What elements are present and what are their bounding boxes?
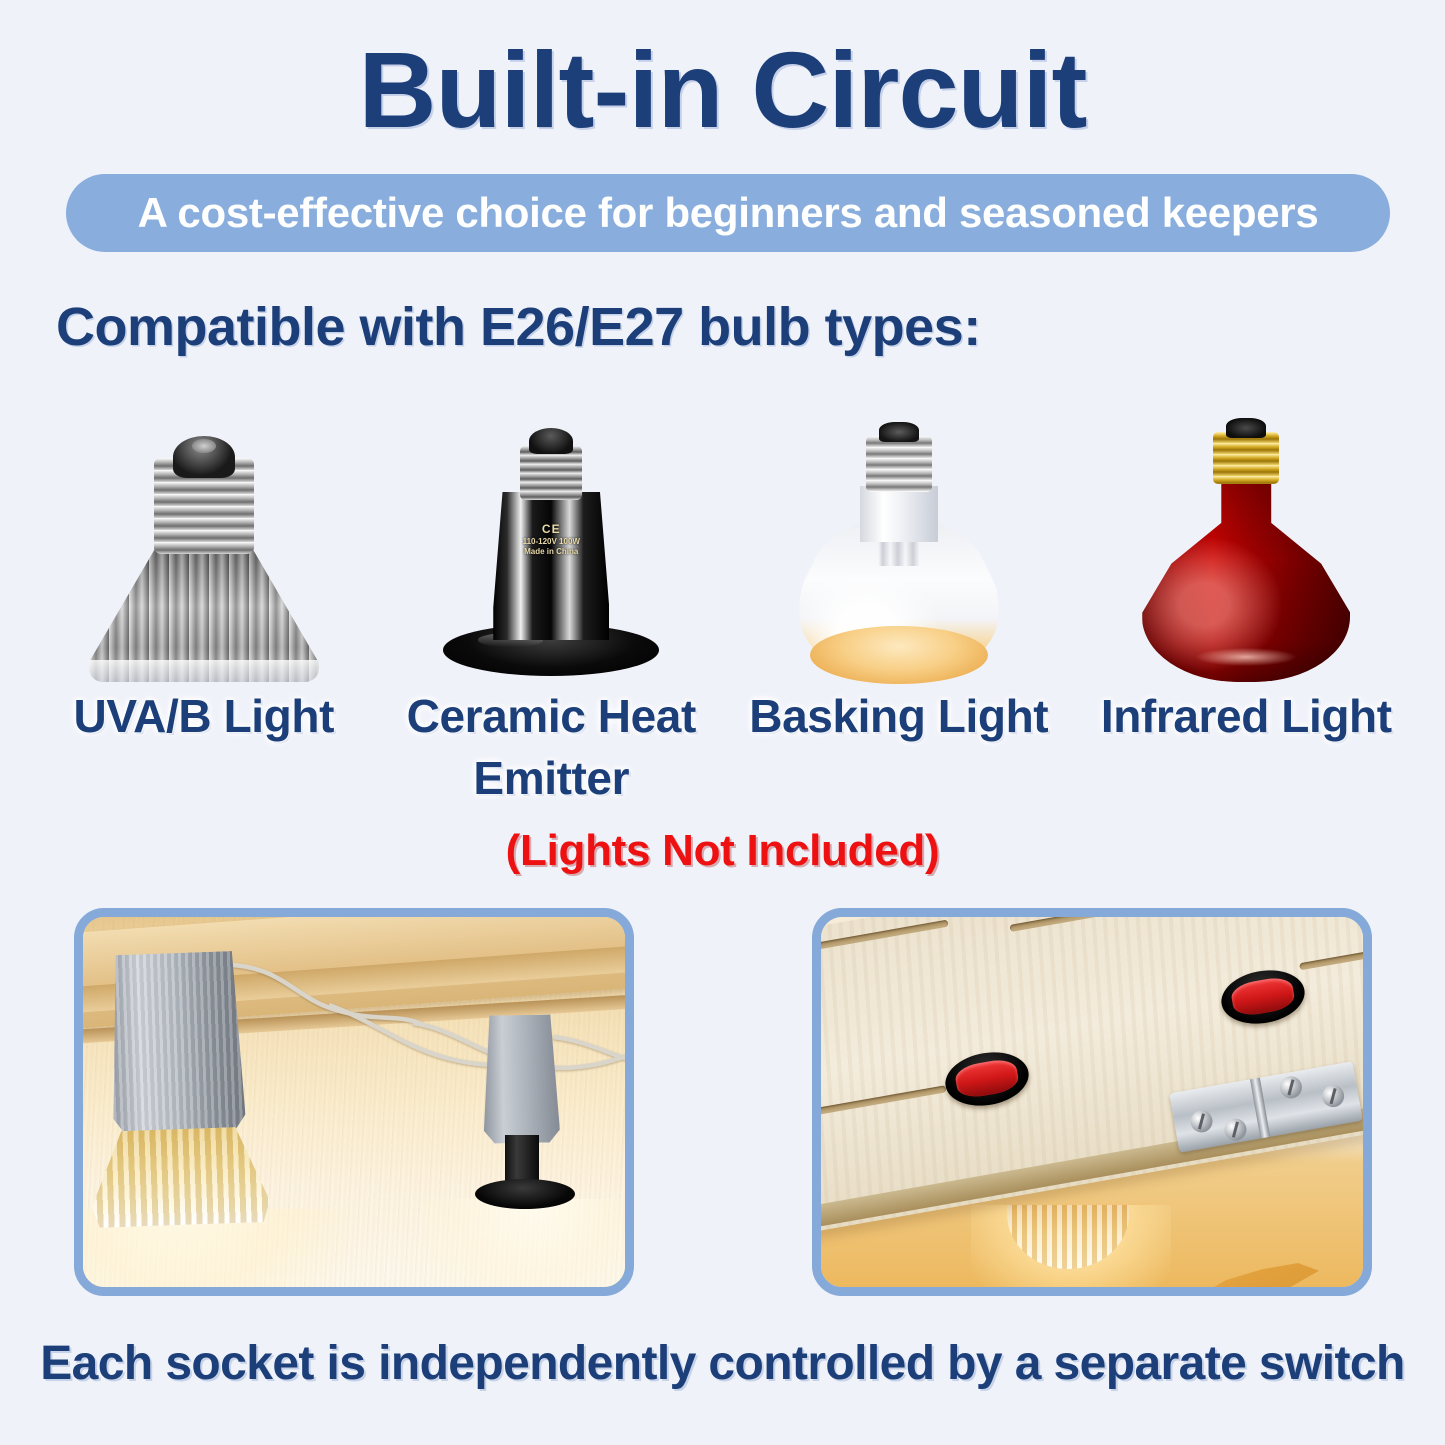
subtitle-banner: A cost-effective choice for beginners an… (66, 174, 1390, 252)
emitter-origin-text: Made in China (524, 547, 578, 556)
basking-bulb-icon (799, 420, 999, 682)
bulb-label-ceramic-heat-emitter: Ceramic Heat Emitter (378, 686, 726, 809)
emitter-rating-text: 110-120V 100W (523, 537, 580, 546)
bulb-label-row: UVA/B Light Ceramic Heat Emitter Basking… (30, 686, 1420, 809)
uvab-reflector-bulb-icon (89, 432, 319, 682)
page-title: Built-in Circuit (0, 28, 1445, 152)
bulb-item-ceramic-heat-emitter: CE 110-120V 100W Made in China (378, 382, 726, 682)
bulb-item-uva-b-light (30, 382, 378, 682)
bulb-label-uva-b-light: UVA/B Light (30, 686, 378, 809)
infrared-bulb-icon (1142, 416, 1350, 682)
photo-sockets-under-lid (74, 908, 634, 1296)
lights-not-included-notice: (Lights Not Included) (0, 826, 1445, 876)
photo-switches-on-top (812, 908, 1372, 1296)
bulb-item-infrared-light (1073, 382, 1421, 682)
ceramic-heat-emitter-icon: CE 110-120V 100W Made in China (443, 426, 659, 682)
compatibility-heading: Compatible with E26/E27 bulb types: (56, 296, 981, 358)
bulb-item-basking-light (725, 382, 1073, 682)
emitter-printed-label: CE 110-120V 100W Made in China (499, 522, 603, 557)
bulb-gallery: CE 110-120V 100W Made in China (30, 382, 1420, 682)
subtitle-text: A cost-effective choice for beginners an… (138, 189, 1319, 237)
footer-caption: Each socket is independently controlled … (0, 1336, 1445, 1391)
ce-mark-text: CE (499, 522, 603, 537)
bulb-label-infrared-light: Infrared Light (1073, 686, 1421, 809)
bulb-label-basking-light: Basking Light (725, 686, 1073, 809)
